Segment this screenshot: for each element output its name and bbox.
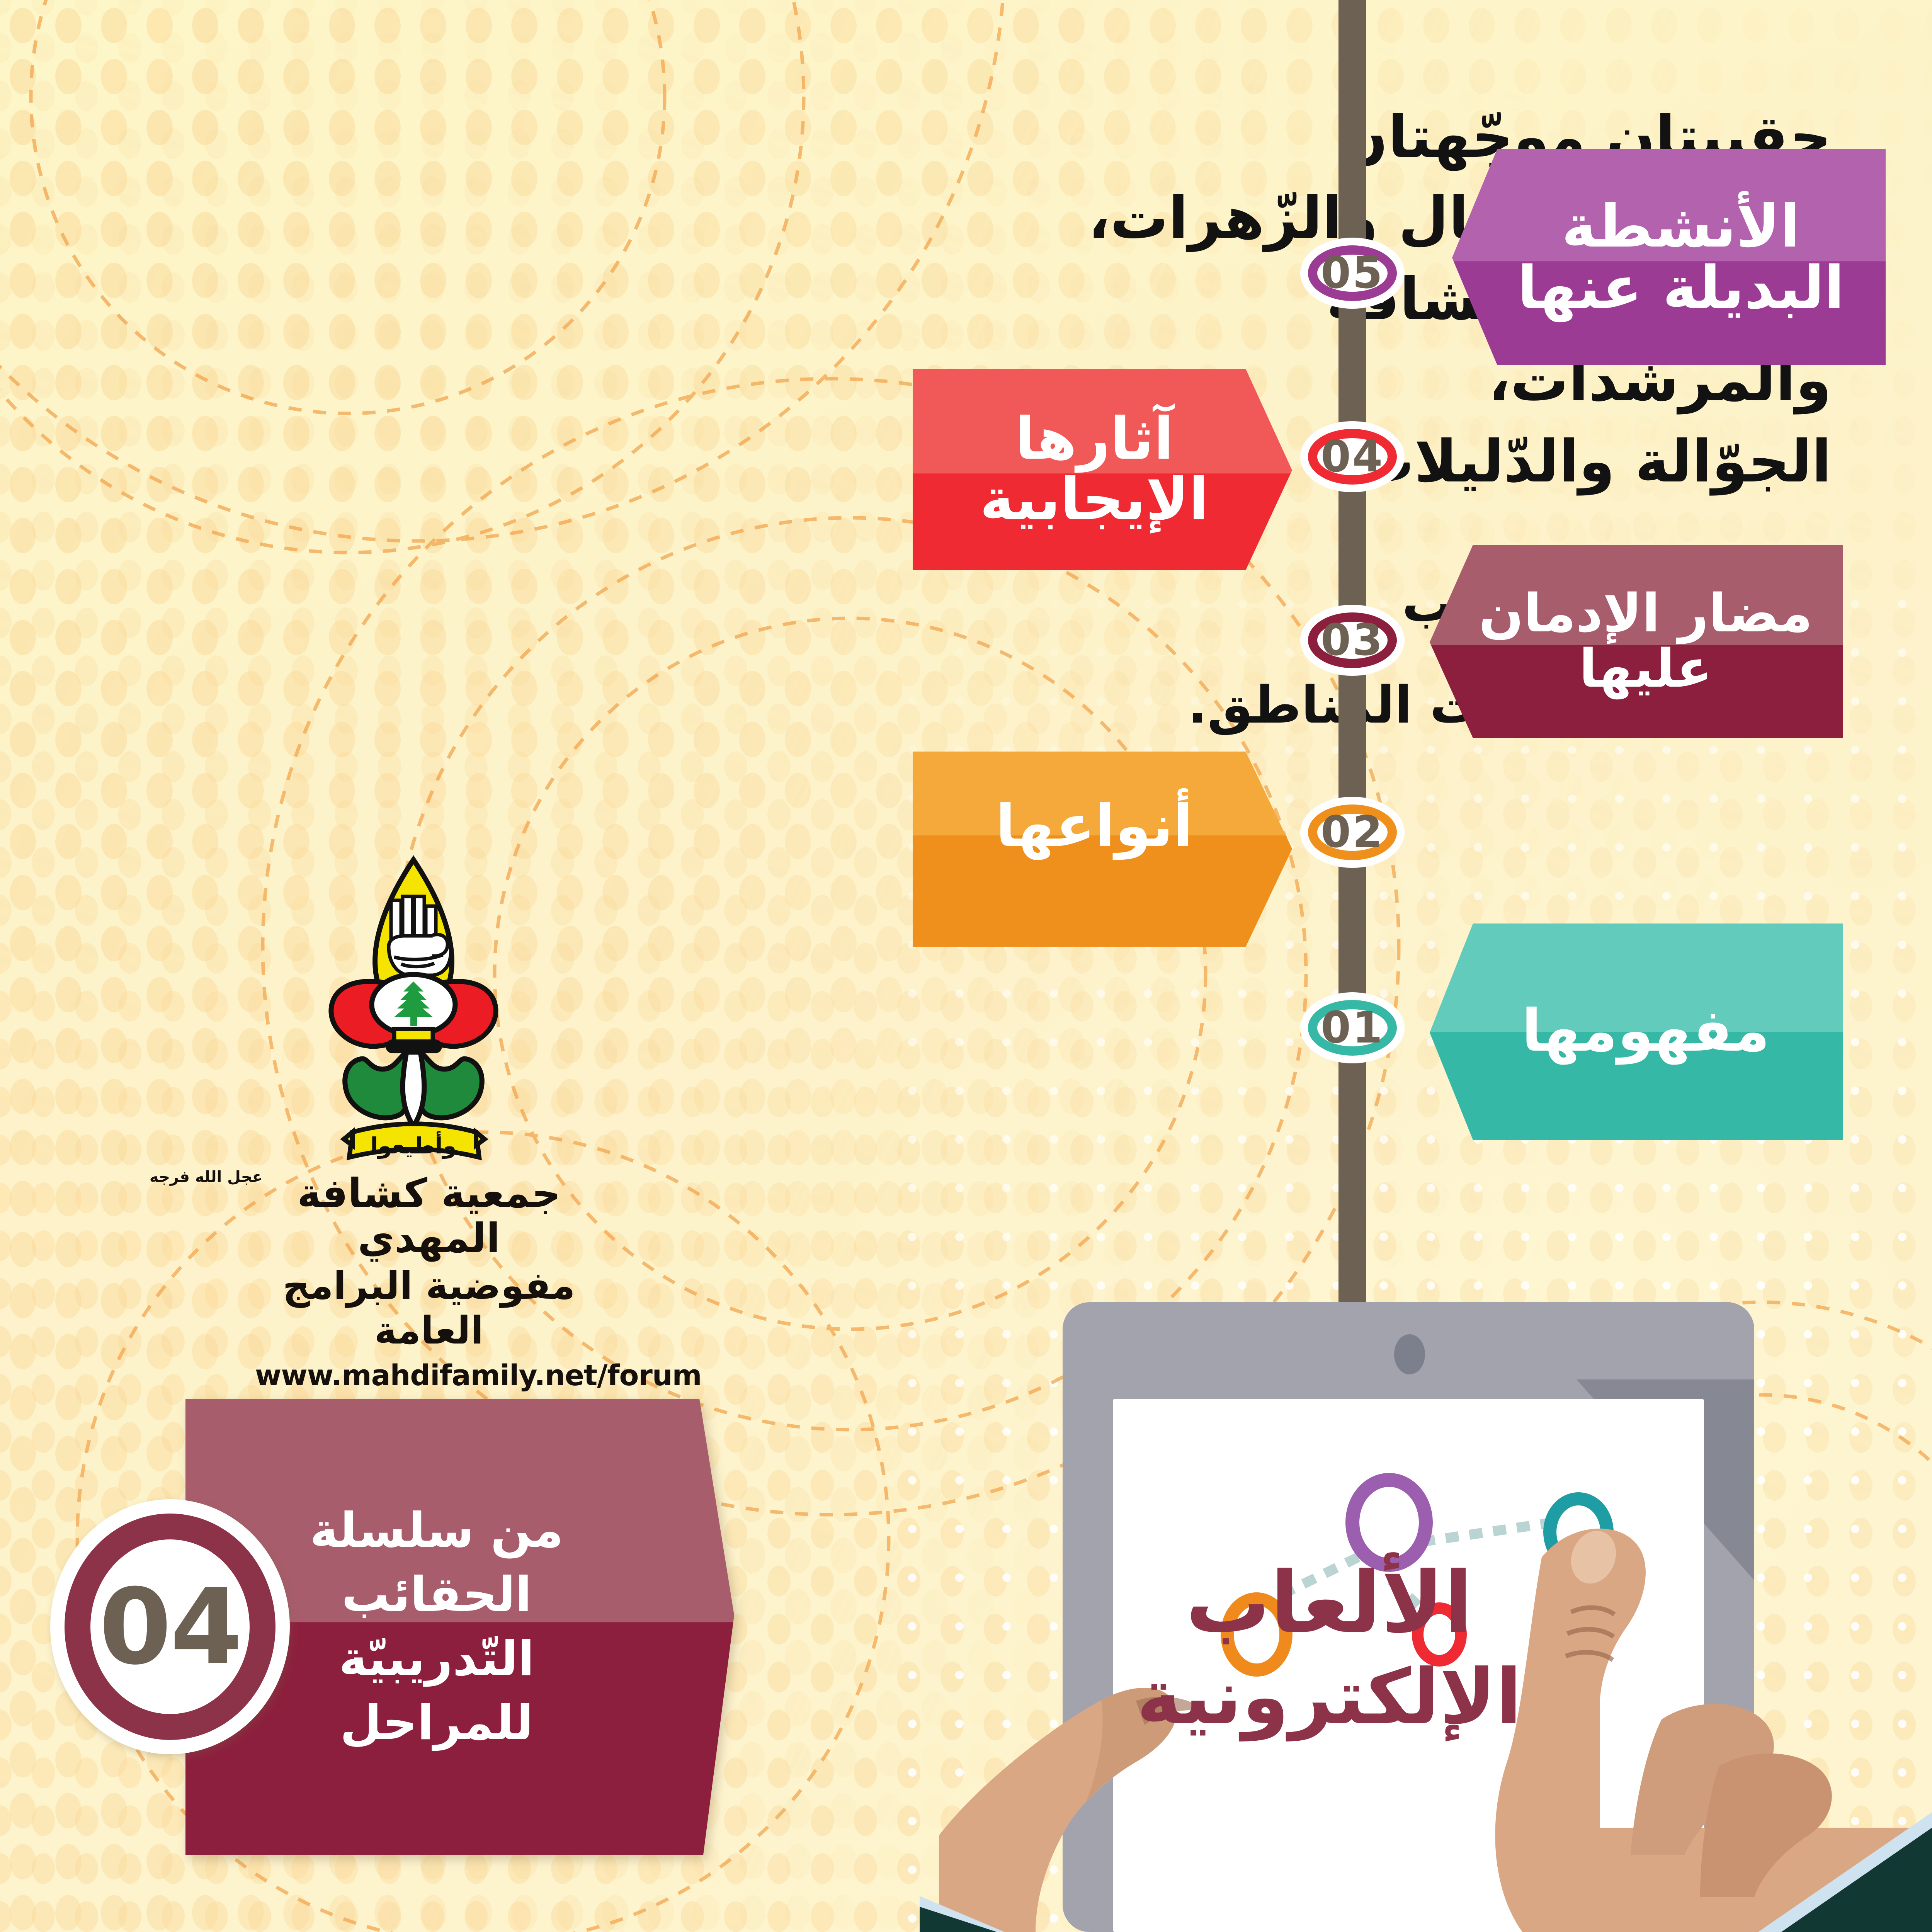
series-line-2: الحقائب [342,1563,532,1627]
timeline-node-01[interactable]: 01 [1300,992,1405,1063]
banner-line-2: الإيجابية [913,470,1276,529]
org-name: جمعية كشافة المهدي [297,1170,561,1262]
series-badge-disc: 04 [90,1539,250,1714]
node-number-02: 02 [1321,807,1384,857]
tablet-title: الألعاب الإلكترونية [1028,1553,1631,1742]
banner-alternative-activities[interactable]: الأنشطة البديلة عنها [1445,149,1901,365]
banner-addiction-harms[interactable]: مضار الإدمان عليها [1426,545,1855,738]
banner-line-1: آثارها [913,410,1276,470]
banner-line-2: البديلة عنها [1461,258,1901,318]
node-number-03: 03 [1321,615,1384,665]
series-line-1: من سلسلة [310,1498,563,1563]
tablet-camera-icon [1394,1334,1425,1374]
logo-motto-text: وأطيعوا [370,1131,456,1159]
node-number-04: 04 [1321,432,1384,482]
org-honorific: عجل الله فرجه [150,1168,263,1186]
timeline-node-05[interactable]: 05 [1300,238,1405,309]
org-name-row: عجل الله فرجه جمعية كشافة المهدي [255,1171,603,1261]
tablet-title-line-2: الإلكترونية [1028,1653,1631,1742]
series-line-4: للمراحل [340,1691,533,1755]
scout-fleur-de-lis-logo: وأطيعوا [317,848,510,1169]
banner-types[interactable]: أنواعها [913,752,1276,902]
timeline-node-04[interactable]: 04 [1300,421,1405,492]
org-department: مفوضية البرامج العامة [255,1264,603,1353]
node-number-05: 05 [1321,248,1384,298]
banner-line-1: أنواعها [913,797,1276,857]
organization-block: عجل الله فرجه جمعية كشافة المهدي مفوضية … [255,1171,603,1393]
banner-concept[interactable]: مفهومها [1426,923,1855,1140]
tablet-title-line-1: الألعاب [1028,1553,1631,1653]
banner-line-2: عليها [1437,642,1855,696]
series-badge-ring: 04 [65,1514,276,1740]
banner-line-1: مضار الإدمان [1437,587,1855,642]
series-line-3: التّدريبيّة [339,1627,534,1691]
timeline-node-02[interactable]: 02 [1300,797,1405,868]
banner-line-1: مفهومها [1437,1002,1855,1062]
infographic-poster: حقيبتان موجّهتان لمرحلة الأشبال والزّهرا… [0,0,1932,1932]
series-badge-number: 04 [99,1566,241,1688]
org-website[interactable]: www.mahdifamily.net/forum [255,1359,603,1393]
banner-line-1: الأنشطة [1461,196,1901,258]
series-number-badge[interactable]: 04 [50,1499,290,1754]
node-number-01: 01 [1321,1003,1384,1053]
timeline-node-03[interactable]: 03 [1300,605,1405,676]
banner-positive-effects[interactable]: آثارها الإيجابية [913,369,1276,570]
